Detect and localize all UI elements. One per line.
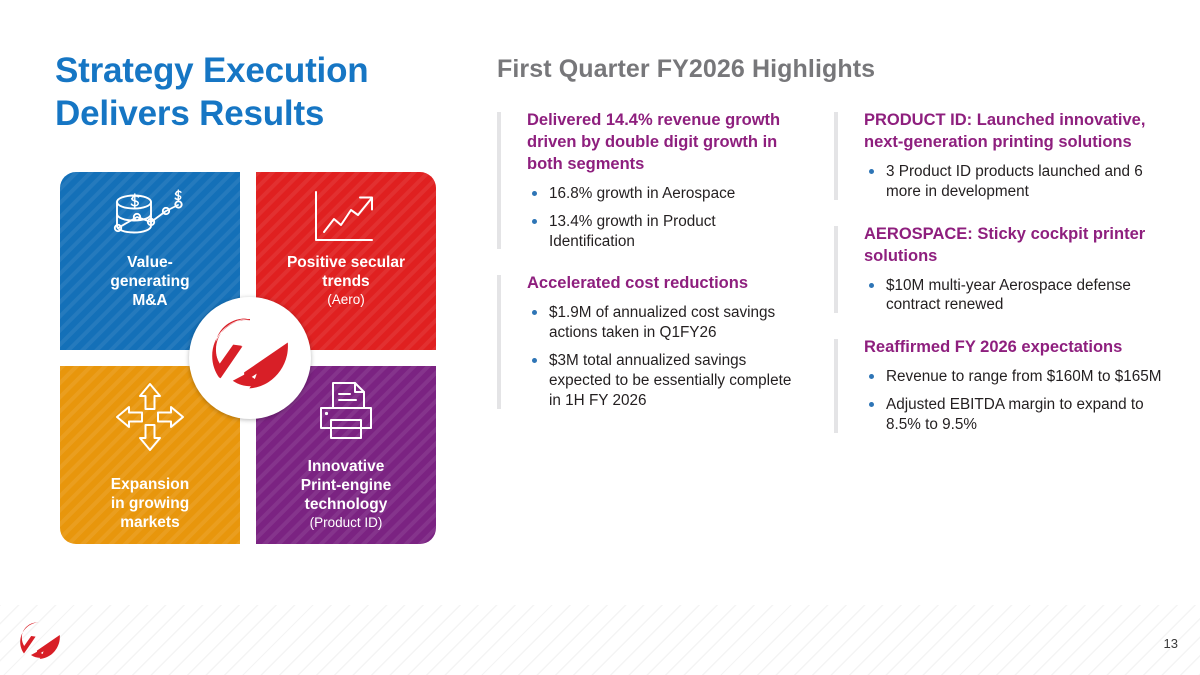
tile-label-line: Print-engine bbox=[301, 477, 391, 496]
highlight-block-fy2026-expectations: Reaffirmed FY 2026 expectations Revenue … bbox=[834, 337, 1162, 435]
tile-sublabel: (Aero) bbox=[287, 292, 405, 308]
highlight-block-revenue-growth: Delivered 14.4% revenue growth driven by… bbox=[497, 110, 797, 251]
highlight-heading: PRODUCT ID: Launched innovative, next-ge… bbox=[864, 110, 1162, 154]
coin-stack-growth-chart-icon bbox=[107, 186, 193, 252]
printer-icon bbox=[311, 378, 381, 444]
tile-label-line: M&A bbox=[110, 292, 189, 311]
quadrant-tile-label: Positive secular trends (Aero) bbox=[279, 254, 413, 308]
highlights-column-right: PRODUCT ID: Launched innovative, next-ge… bbox=[834, 110, 1162, 457]
tile-label-line: Value- bbox=[110, 254, 189, 273]
list-item: 3 Product ID products launched and 6 mor… bbox=[864, 162, 1162, 202]
quadrant-tile-label: Innovative Print-engine technology (Prod… bbox=[293, 458, 399, 531]
tile-label-line: generating bbox=[110, 273, 189, 292]
center-logo-badge bbox=[189, 297, 311, 419]
highlights-column-left: Delivered 14.4% revenue growth driven by… bbox=[497, 110, 797, 433]
tile-label-line: trends bbox=[287, 273, 405, 292]
page-number: 13 bbox=[1164, 636, 1178, 651]
block-accent-bar bbox=[834, 339, 838, 433]
strategy-quadrant-graphic: Value- generating M&A bbox=[60, 172, 440, 544]
upward-trend-chart-icon bbox=[310, 186, 382, 252]
tile-label-line: markets bbox=[111, 514, 189, 533]
astronova-star-logo-icon bbox=[208, 314, 292, 403]
highlight-bullet-list: Revenue to range from $160M to $165M Adj… bbox=[864, 367, 1162, 435]
highlight-bullet-list: 3 Product ID products launched and 6 mor… bbox=[864, 162, 1162, 202]
highlight-heading: Reaffirmed FY 2026 expectations bbox=[864, 337, 1162, 359]
highlight-bullet-list: 16.8% growth in Aerospace 13.4% growth i… bbox=[527, 184, 797, 252]
highlight-bullet-list: $10M multi-year Aerospace defense contra… bbox=[864, 276, 1162, 316]
highlight-heading: Delivered 14.4% revenue growth driven by… bbox=[527, 110, 797, 176]
quadrant-tile-label: Value- generating M&A bbox=[102, 254, 197, 311]
block-accent-bar bbox=[497, 112, 501, 249]
list-item: $3M total annualized savings expected to… bbox=[527, 351, 797, 411]
highlight-block-product-id: PRODUCT ID: Launched innovative, next-ge… bbox=[834, 110, 1162, 202]
page-title-line-2: Delivers Results bbox=[55, 93, 475, 136]
page-title-line-1: Strategy Execution bbox=[55, 50, 475, 93]
page-title: Strategy Execution Delivers Results bbox=[55, 50, 475, 135]
tile-label-line: in growing bbox=[111, 495, 189, 514]
block-accent-bar bbox=[834, 226, 838, 314]
list-item: $1.9M of annualized cost savings actions… bbox=[527, 303, 797, 343]
list-item: 13.4% growth in Product Identification bbox=[527, 212, 797, 252]
list-item: Revenue to range from $160M to $165M bbox=[864, 367, 1162, 387]
astronova-star-logo-icon bbox=[18, 620, 62, 669]
highlight-heading: Accelerated cost reductions bbox=[527, 273, 797, 295]
slide: Strategy Execution Delivers Results bbox=[0, 0, 1200, 675]
tile-sublabel: (Product ID) bbox=[301, 515, 391, 531]
four-way-expand-arrows-icon bbox=[115, 384, 185, 450]
quadrant-tile-label: Expansion in growing markets bbox=[103, 476, 197, 533]
highlight-block-aerospace: AEROSPACE: Sticky cockpit printer soluti… bbox=[834, 224, 1162, 316]
slide-footer: 13 bbox=[0, 605, 1200, 675]
block-accent-bar bbox=[834, 112, 838, 200]
block-accent-bar bbox=[497, 275, 501, 408]
highlight-block-cost-reductions: Accelerated cost reductions $1.9M of ann… bbox=[497, 273, 797, 410]
highlight-heading: AEROSPACE: Sticky cockpit printer soluti… bbox=[864, 224, 1162, 268]
list-item: $10M multi-year Aerospace defense contra… bbox=[864, 276, 1162, 316]
highlights-title: First Quarter FY2026 Highlights bbox=[497, 55, 875, 84]
list-item: 16.8% growth in Aerospace bbox=[527, 184, 797, 204]
tile-label-line: technology bbox=[301, 496, 391, 515]
highlight-bullet-list: $1.9M of annualized cost savings actions… bbox=[527, 303, 797, 410]
list-item: Adjusted EBITDA margin to expand to 8.5%… bbox=[864, 395, 1162, 435]
tile-label-line: Expansion bbox=[111, 476, 189, 495]
tile-label-line: Positive secular bbox=[287, 254, 405, 273]
tile-label-line: Innovative bbox=[301, 458, 391, 477]
